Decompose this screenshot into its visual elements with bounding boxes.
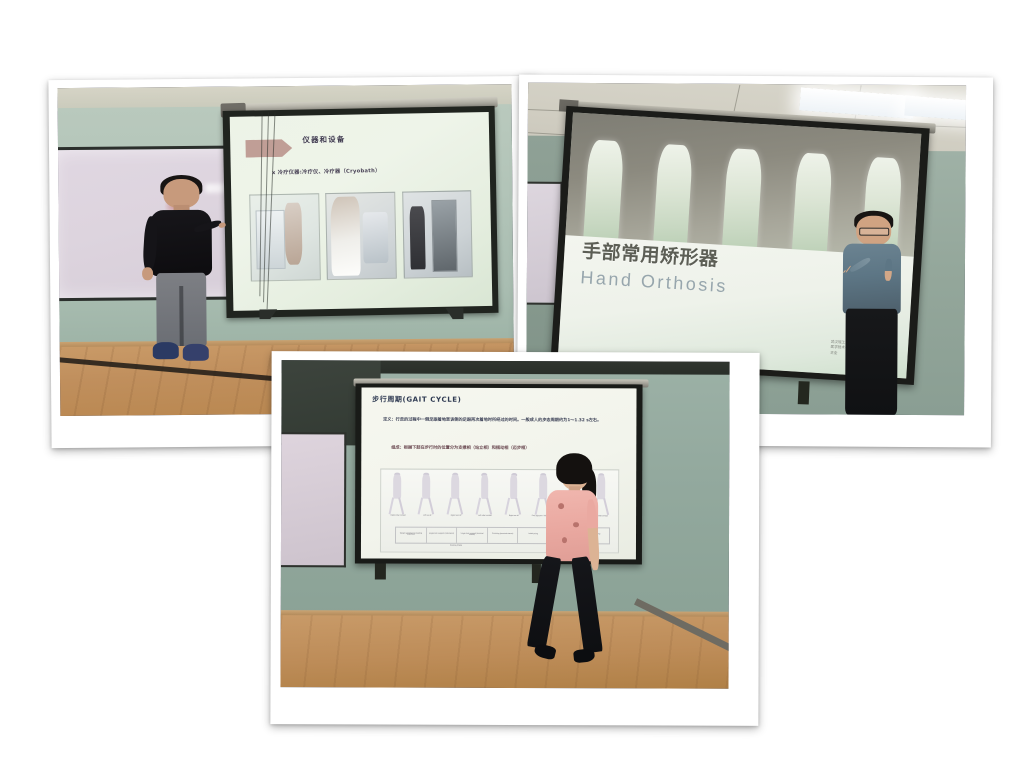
gait-walker [444,473,467,516]
whiteboard [281,432,346,567]
presenter-black-shirt [131,178,232,363]
presenter-blue-shirt [798,203,931,415]
presenter-a-legs [156,272,207,346]
hand-orthosis-photo-1 [582,139,624,250]
slide-bullet-definition: 定义：行走的过程中一侧足跟着地至该侧的足跟再次着地时所经过的时间。一般成人的步态… [383,417,625,424]
gait-event-label: Right toe off [501,515,526,523]
gait-walker [415,473,438,516]
slide-thumbnail-row [249,190,473,282]
presenter-c-front-shoe [533,643,556,660]
wooden-floor [280,615,728,689]
presenter-a-shoe-left [152,342,178,359]
presenter-c-front-leg [527,556,562,650]
presenter-c-back-shoe [573,648,595,663]
presenter-b-torso [843,243,901,313]
gait-walker [473,473,496,516]
presenter-a-right-hand [218,222,226,228]
slide-bullet: x 冷疗仪器:冷疗仪、冷疗器（Cryobath） [272,167,381,176]
presenter-a-left-hand [142,267,153,280]
collage-canvas: 仪器和设备 x 冷疗仪器:冷疗仪、冷疗器（Cryobath） [0,0,1024,768]
floral-motif-1 [558,503,564,509]
presenter-b-lowered-arm [884,259,892,282]
gait-phase-cell: Weight acceptance (loading response) [396,528,427,543]
slide-title: 步行周期(GAIT CYCLE) [372,395,461,405]
gait-phase-group: Stance phase [395,542,517,550]
photo-3-image: 步行周期(GAIT CYCLE) 定义：行走的过程中一侧足跟着地至该侧的足跟再次… [280,360,729,689]
gait-phase-cell: Single limb support (midstance) [427,528,458,543]
thumbnail-cryo-chamber [402,190,473,279]
thumbnail-leg-cold-pack [325,192,396,281]
floral-motif-3 [562,537,567,543]
presenter-b-forearm [845,266,850,273]
presenter-c-hair [556,453,592,484]
screen-hook-left [375,563,386,579]
gait-walker [386,472,409,515]
gait-event-label: Left initial contact [472,515,497,523]
glasses-icon [859,228,889,237]
gait-phase-cell: Preswing (terminal stance) [488,528,519,543]
presenter-a-shoe-right [182,344,208,361]
gait-phase-cell: Single limb support (terminal stance) [457,528,488,543]
gait-event-label: Right heel off [443,515,468,523]
hand-orthosis-photo-2 [652,144,694,255]
slide-bullet-composition: 组成：根据下肢在步行时的位置分为支撑相（站立相）和摆动相（迈步相） [391,444,622,451]
presenter-a-torso [149,210,211,277]
photo-gait-cycle[interactable]: 步行周期(GAIT CYCLE) 定义：行走的过程中一侧足跟着地至该侧的足跟再次… [270,351,759,726]
presenter-c-back-leg [571,556,603,654]
slide-title-arrow-icon [245,139,292,157]
slide-title: 仪器和设备 [302,133,345,145]
presenter-b-legs [845,309,898,415]
gait-walker [503,473,526,516]
presenter-walking-woman [531,453,612,663]
gait-event-label: Left toe off [415,515,440,523]
hand-orthosis-photo-3 [721,148,763,259]
gait-event-label: Right initial contact [386,515,411,523]
presenter-b-raised-arm [848,256,871,273]
floral-motif-2 [573,522,579,528]
